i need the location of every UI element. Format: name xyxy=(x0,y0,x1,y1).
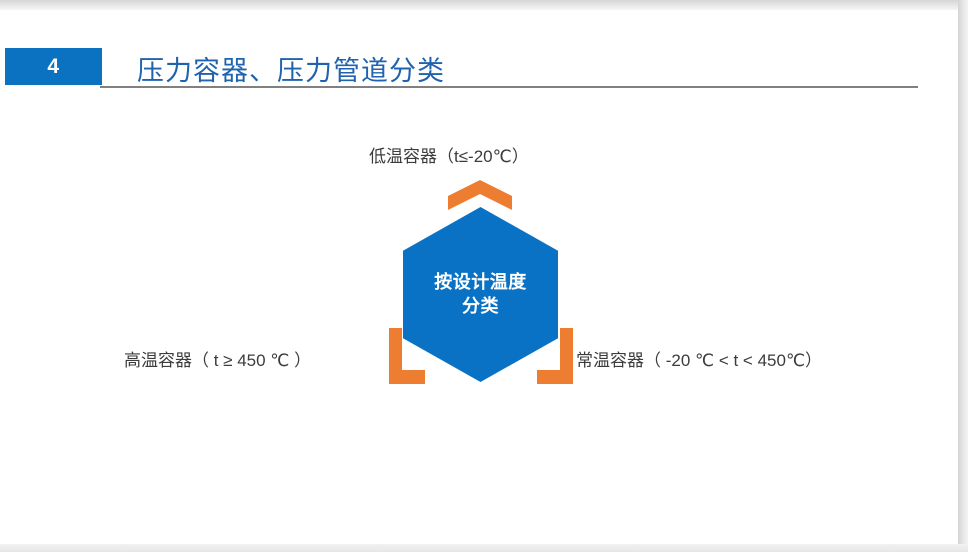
slide-root: 4 压力容器、压力管道分类 低温容器（t≤-20℃） 按设计温度 分类 xyxy=(0,0,968,552)
window-bottom-edge xyxy=(0,544,968,552)
chevron-bracket-left-icon xyxy=(389,328,425,384)
window-top-edge xyxy=(0,0,968,10)
temperature-classification-diagram: 低温容器（t≤-20℃） 按设计温度 分类 xyxy=(0,10,958,544)
chevron-up-icon xyxy=(448,180,512,210)
callout-label-normal-temperature: 常温容器（ -20 ℃ < t < 450℃） xyxy=(576,351,822,371)
callout-label-low-temperature: 低温容器（t≤-20℃） xyxy=(369,147,529,167)
hexagon-label-line2: 分类 xyxy=(462,295,499,318)
hexagon-center-node: 按设计温度 分类 xyxy=(403,207,558,382)
hexagon-label-line1: 按设计温度 xyxy=(434,271,527,294)
chevron-bracket-right-icon xyxy=(537,328,573,384)
window-right-edge xyxy=(958,0,968,552)
slide-canvas: 4 压力容器、压力管道分类 低温容器（t≤-20℃） 按设计温度 分类 xyxy=(0,10,958,544)
callout-label-high-temperature: 高温容器（ t ≥ 450 ℃ ） xyxy=(124,351,311,371)
